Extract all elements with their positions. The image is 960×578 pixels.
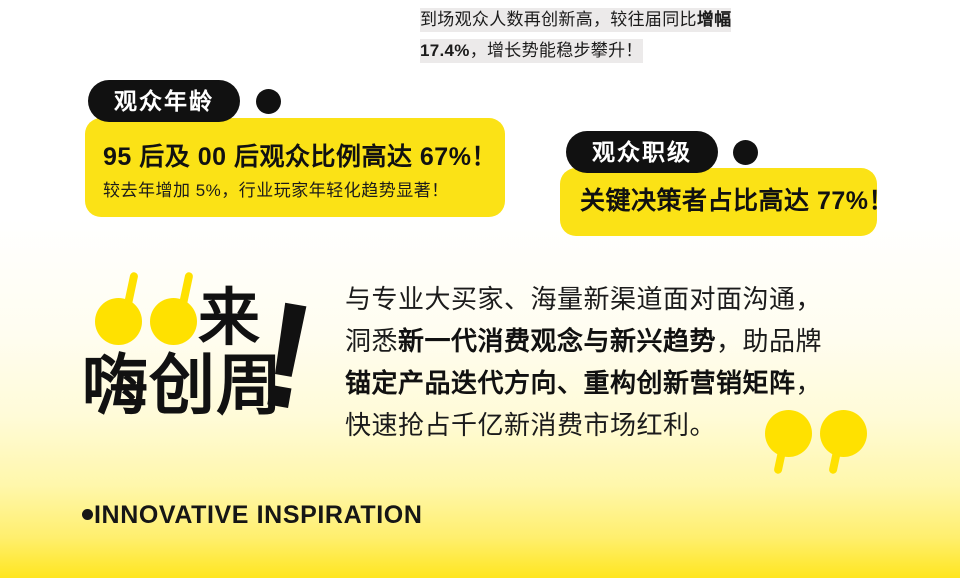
badge-card-subline: 较去年增加 5%，行业玩家年轻化趋势显著！ — [103, 179, 505, 203]
badge-tag-audience-rank: 观众职级 — [566, 131, 718, 173]
footer-tagline-text: INNOVATIVE INSPIRATION — [94, 501, 423, 529]
quote-line-3-c: ， — [796, 368, 823, 398]
quote-line-1: 与专业大买家、海量新渠道面对面沟通， — [345, 278, 875, 320]
headline-stat: 17.4% — [420, 41, 470, 60]
badge-card-audience-rank: 关键决策者占比高达 77%！ — [560, 168, 877, 236]
badge-card-headline: 95 后及 00 后观众比例高达 67%！ — [103, 142, 505, 172]
badge-dot-icon — [733, 140, 758, 165]
headline-line-1: 到场观众人数再创新高，较往届同比增幅 — [420, 4, 840, 35]
quote-line-2-a: 洞悉 — [345, 326, 398, 356]
bullet-dot-icon — [82, 509, 93, 520]
quote-line-2: 洞悉新一代消费观念与新兴趋势，助品牌 — [345, 320, 875, 362]
quote-line-2-c: ，助品牌 — [716, 326, 822, 356]
quote-open-icon — [95, 280, 205, 350]
headline-emphasis-a: 增幅 — [697, 10, 732, 29]
slogan-exclamation: ! — [249, 277, 324, 433]
headline-line-2: 17.4%，增长势能稳步攀升！ — [420, 35, 840, 66]
quote-line-2-emphasis: 新一代消费观念与新兴趋势 — [398, 326, 716, 356]
headline-text-b: ，增长势能稳步攀升！ — [470, 41, 643, 60]
badge-card-headline: 关键决策者占比高达 77%！ — [580, 186, 877, 216]
badge-card-audience-age: 95 后及 00 后观众比例高达 67%！ 较去年增加 5%，行业玩家年轻化趋势… — [85, 118, 505, 217]
badge-tag-audience-age: 观众年龄 — [88, 80, 240, 122]
slogan-top: 来 — [198, 288, 260, 350]
quote-body: 与专业大买家、海量新渠道面对面沟通， 洞悉新一代消费观念与新兴趋势，助品牌 锚定… — [345, 278, 875, 446]
footer-tagline: INNOVATIVE INSPIRATION — [82, 500, 423, 530]
badge-dot-icon — [256, 89, 281, 114]
quote-line-4: 快速抢占千亿新消费市场红利。 — [345, 404, 875, 446]
quote-line-3-emphasis: 锚定产品迭代方向、重构创新营销矩阵 — [345, 368, 796, 398]
headline-block: 到场观众人数再创新高，较往届同比增幅 17.4%，增长势能稳步攀升！ — [420, 4, 840, 66]
poster-canvas: 到场观众人数再创新高，较往届同比增幅 17.4%，增长势能稳步攀升！ 观众年龄 … — [0, 0, 960, 578]
quote-line-3: 锚定产品迭代方向、重构创新营销矩阵， — [345, 362, 875, 404]
headline-text-a: 到场观众人数再创新高，较往届同比 — [420, 10, 697, 29]
